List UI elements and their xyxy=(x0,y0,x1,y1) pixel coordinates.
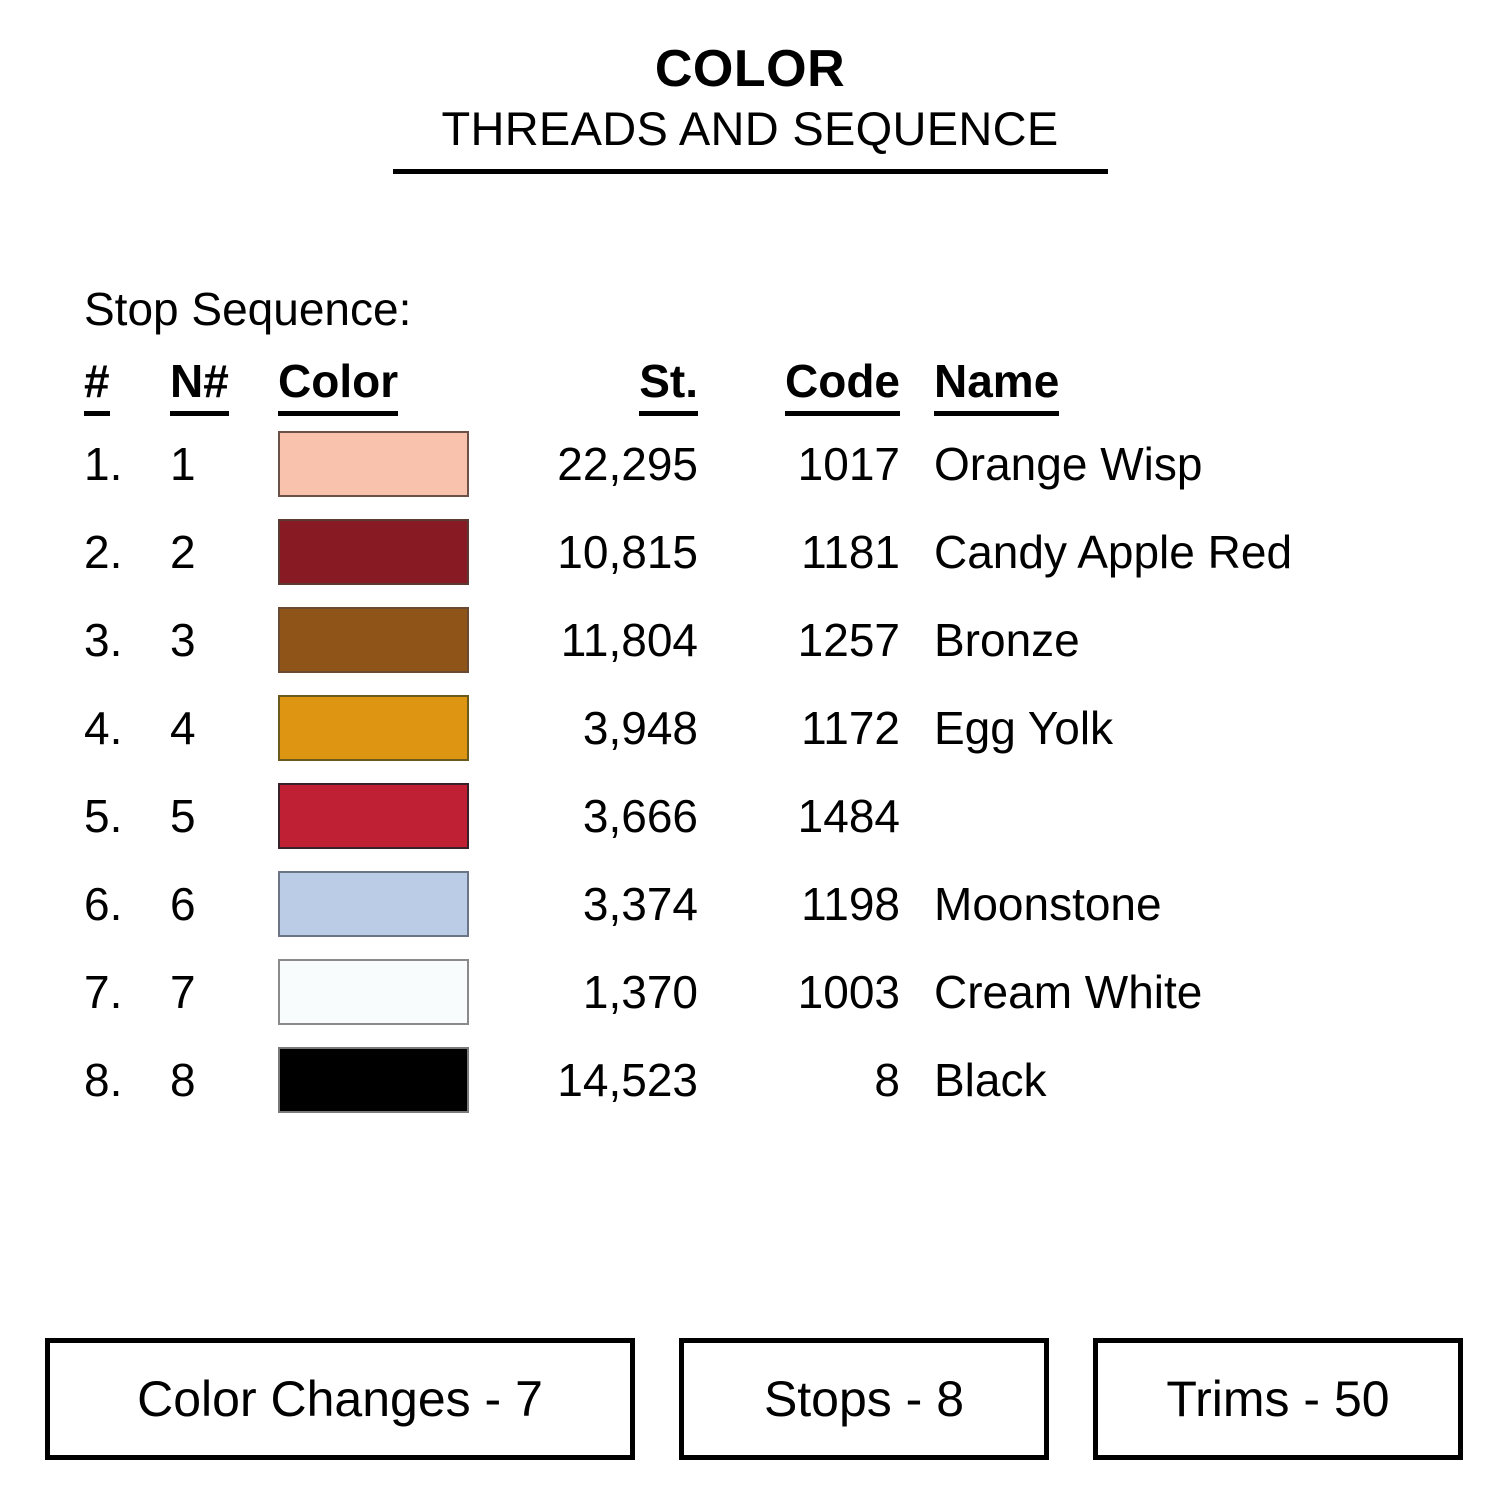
title-divider xyxy=(393,169,1108,174)
color-swatch[interactable] xyxy=(278,871,469,937)
color-swatch[interactable] xyxy=(278,1047,469,1113)
color-swatch[interactable] xyxy=(278,959,469,1025)
column-header-code: Code xyxy=(732,358,934,420)
color-swatch[interactable] xyxy=(278,519,469,585)
row-stitches: 10,815 xyxy=(488,508,732,596)
column-header-stitches: St. xyxy=(488,358,732,420)
document-header: COLOR THREADS AND SEQUENCE xyxy=(0,0,1500,174)
trims-box: Trims - 50 xyxy=(1093,1338,1463,1460)
row-color-cell xyxy=(278,596,488,684)
row-code: 1198 xyxy=(732,860,934,948)
row-stitches: 11,804 xyxy=(488,596,732,684)
row-needle: 5 xyxy=(170,772,278,860)
color-swatch[interactable] xyxy=(278,431,469,497)
table-row[interactable]: 6.63,3741198Moonstone xyxy=(84,860,1292,948)
row-color-cell xyxy=(278,508,488,596)
row-needle: 6 xyxy=(170,860,278,948)
row-needle: 3 xyxy=(170,596,278,684)
row-stitches: 3,374 xyxy=(488,860,732,948)
row-stitches: 22,295 xyxy=(488,420,732,508)
table-body: 1.122,2951017Orange Wisp2.210,8151181Can… xyxy=(84,420,1292,1124)
row-name: Bronze xyxy=(934,596,1292,684)
row-name: Orange Wisp xyxy=(934,420,1292,508)
row-code: 8 xyxy=(732,1036,934,1124)
row-code: 1003 xyxy=(732,948,934,1036)
color-swatch[interactable] xyxy=(278,783,469,849)
row-code: 1484 xyxy=(732,772,934,860)
stop-sequence-section: Stop Sequence: # N# Color St. Code Name … xyxy=(84,286,1464,1124)
row-index: 3. xyxy=(84,596,170,684)
row-color-cell xyxy=(278,948,488,1036)
row-index: 1. xyxy=(84,420,170,508)
row-needle: 2 xyxy=(170,508,278,596)
row-index: 2. xyxy=(84,508,170,596)
table-row[interactable]: 7.71,3701003Cream White xyxy=(84,948,1292,1036)
table-row[interactable]: 3.311,8041257Bronze xyxy=(84,596,1292,684)
row-color-cell xyxy=(278,684,488,772)
column-header-color: Color xyxy=(278,358,488,420)
color-swatch[interactable] xyxy=(278,607,469,673)
row-stitches: 14,523 xyxy=(488,1036,732,1124)
row-name: Egg Yolk xyxy=(934,684,1292,772)
table-row[interactable]: 1.122,2951017Orange Wisp xyxy=(84,420,1292,508)
table-row[interactable]: 5.53,6661484 xyxy=(84,772,1292,860)
row-index: 5. xyxy=(84,772,170,860)
row-color-cell xyxy=(278,772,488,860)
row-name: Moonstone xyxy=(934,860,1292,948)
color-changes-box: Color Changes - 7 xyxy=(45,1338,635,1460)
column-header-name: Name xyxy=(934,358,1292,420)
row-name xyxy=(934,772,1292,860)
row-index: 4. xyxy=(84,684,170,772)
row-stitches: 3,666 xyxy=(488,772,732,860)
column-header-index: # xyxy=(84,358,170,420)
row-needle: 7 xyxy=(170,948,278,1036)
table-row[interactable]: 8.814,5238Black xyxy=(84,1036,1292,1124)
row-name: Black xyxy=(934,1036,1292,1124)
table-row[interactable]: 2.210,8151181Candy Apple Red xyxy=(84,508,1292,596)
color-swatch[interactable] xyxy=(278,695,469,761)
page-subtitle: THREADS AND SEQUENCE xyxy=(0,103,1500,156)
row-code: 1257 xyxy=(732,596,934,684)
page-title: COLOR xyxy=(0,42,1500,97)
row-name: Cream White xyxy=(934,948,1292,1036)
row-color-cell xyxy=(278,860,488,948)
row-index: 6. xyxy=(84,860,170,948)
row-index: 8. xyxy=(84,1036,170,1124)
summary-row: Color Changes - 7 Stops - 8 Trims - 50 xyxy=(45,1338,1455,1460)
table-header-row: # N# Color St. Code Name xyxy=(84,358,1292,420)
row-color-cell xyxy=(278,1036,488,1124)
table-row[interactable]: 4.43,9481172Egg Yolk xyxy=(84,684,1292,772)
row-index: 7. xyxy=(84,948,170,1036)
row-stitches: 1,370 xyxy=(488,948,732,1036)
stops-box: Stops - 8 xyxy=(679,1338,1049,1460)
row-needle: 8 xyxy=(170,1036,278,1124)
row-code: 1172 xyxy=(732,684,934,772)
column-header-needle: N# xyxy=(170,358,278,420)
color-sequence-table: # N# Color St. Code Name 1.122,2951017Or… xyxy=(84,358,1292,1124)
section-label: Stop Sequence: xyxy=(84,286,1464,332)
row-code: 1017 xyxy=(732,420,934,508)
row-needle: 4 xyxy=(170,684,278,772)
row-name: Candy Apple Red xyxy=(934,508,1292,596)
row-code: 1181 xyxy=(732,508,934,596)
row-stitches: 3,948 xyxy=(488,684,732,772)
row-needle: 1 xyxy=(170,420,278,508)
row-color-cell xyxy=(278,420,488,508)
